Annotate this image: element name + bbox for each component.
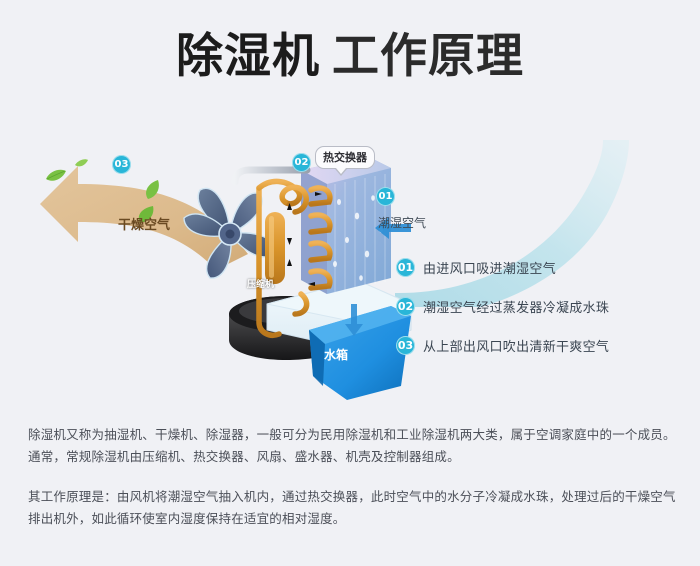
legend-badge-01: 01 [396,258,415,277]
humid-air-badge: 01 [376,184,395,206]
title-part-2: 工作原理 [332,29,524,84]
page-title: 除湿机工作原理 [176,30,524,84]
list-item: 03 从上部出风口吹出清新干爽空气 [396,336,686,355]
dry-air-badge: 03 [112,152,131,174]
leaf-icon-2 [75,153,88,172]
list-item: 02 潮湿空气经过蒸发器冷凝成水珠 [396,297,686,316]
compressor-label: 压缩机 [247,277,274,290]
legend-text-03: 从上部出风口吹出清新干爽空气 [423,336,609,355]
dry-air-label: 干燥空气 [118,214,170,233]
legend-text-01: 由进风口吸进潮湿空气 [423,258,556,277]
humid-air-label: 潮湿空气 [378,214,426,231]
legend-list: 01 由进风口吸进潮湿空气 02 潮湿空气经过蒸发器冷凝成水珠 03 从上部出风… [396,258,686,355]
infographic-page: 除湿机工作原理 [0,0,700,566]
paragraph-1: 除湿机又称为抽湿机、干燥机、除湿器，一般可分为民用除湿机和工业除湿机两大类，属于… [28,424,676,468]
badge-number-03: 03 [112,155,131,174]
badge-number-01: 01 [376,187,395,206]
title-part-1: 除湿机 [176,29,320,84]
heat-exchanger-callout: 热交换器 [315,146,375,169]
list-item: 01 由进风口吸进潮湿空气 [396,258,686,277]
paragraph-2: 其工作原理是：由风机将潮湿空气抽入机内，通过热交换器，此时空气中的水分子冷凝成水… [28,486,676,530]
leaf-icon-3 [145,180,161,204]
legend-badge-03: 03 [396,336,415,355]
water-tank-label: 水箱 [324,346,348,363]
leaf-icon-1 [45,168,67,187]
body-copy-block: 除湿机又称为抽湿机、干燥机、除湿器，一般可分为民用除湿机和工业除湿机两大类，属于… [28,424,676,530]
title-block: 除湿机工作原理 [0,30,700,84]
legend-text-02: 潮湿空气经过蒸发器冷凝成水珠 [423,297,609,316]
badge-number-02: 02 [292,153,311,172]
legend-badge-02: 02 [396,297,415,316]
heat-exchanger-badge: 02 [292,150,311,172]
